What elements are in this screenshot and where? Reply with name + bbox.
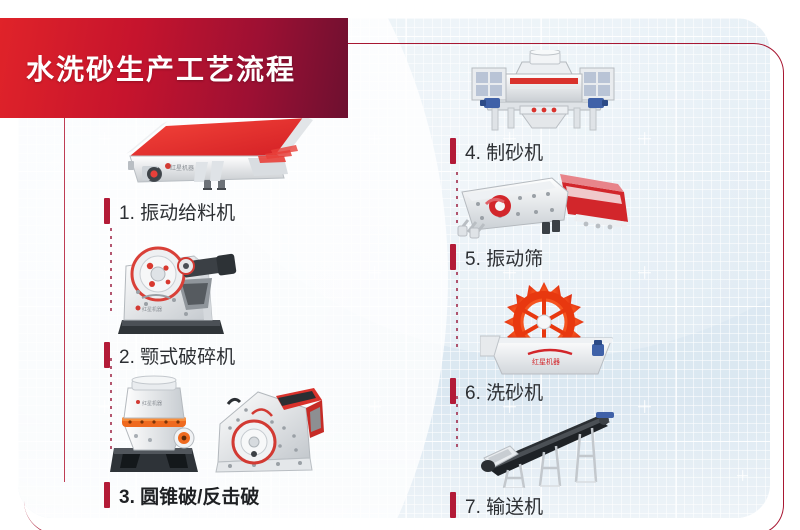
impact-crusher-image (210, 380, 330, 476)
page-title: 水洗砂生产工艺流程 (26, 48, 296, 88)
accent-bar (450, 378, 456, 404)
svg-text:红星机器: 红星机器 (170, 164, 194, 172)
step-7-label: 7. 输送机 (465, 492, 543, 519)
cone-crusher-image: 红星机器 (106, 372, 206, 476)
step-6-label: 6. 洗砂机 (465, 378, 543, 405)
right-column: 4. 制砂机 (450, 50, 680, 522)
belt-conveyor-image (478, 412, 680, 488)
accent-bar (450, 244, 456, 270)
sand-washing-machine-image: 红星机器 (480, 282, 680, 376)
step-5-label-row: 5. 振动筛 (450, 242, 680, 272)
process-step-5[interactable]: 5. 振动筛 (450, 164, 680, 276)
step-3-label: 3. 圆锥破/反击破 (119, 482, 259, 509)
accent-bar (450, 138, 456, 164)
process-step-1[interactable]: 红星机器 1. 振动给料机 (104, 104, 354, 234)
left-column: 红星机器 1. 振动给料机 (104, 104, 354, 492)
accent-bar (104, 198, 110, 224)
title-banner: 水洗砂生产工艺流程 (0, 18, 348, 118)
step-1-label: 1. 振动给料机 (119, 198, 235, 225)
vibrating-screen-image (456, 164, 680, 240)
svg-text:红星机器: 红星机器 (142, 400, 162, 407)
process-step-3[interactable]: 红星机器 (104, 372, 354, 492)
step-7-label-row: 7. 输送机 (450, 490, 680, 520)
step-2-label: 2. 颚式破碎机 (119, 342, 235, 369)
svg-text:红星机器: 红星机器 (532, 357, 560, 366)
process-step-7[interactable]: 7. 输送机 (450, 412, 680, 522)
svg-text:红星机器: 红星机器 (142, 306, 162, 313)
step-1-label-row: 1. 振动给料机 (104, 196, 354, 226)
accent-bar (104, 342, 110, 368)
step-4-label-row: 4. 制砂机 (450, 136, 680, 166)
process-step-6[interactable]: 红星机器 6. 洗砂机 (450, 282, 680, 408)
step-3-label-row: 3. 圆锥破/反击破 (104, 480, 354, 510)
step-2-label-row: 2. 颚式破碎机 (104, 340, 354, 370)
process-step-2[interactable]: 红星机器 2. 颚式破碎机 (104, 238, 354, 372)
accent-bar (104, 482, 110, 508)
step-6-label-row: 6. 洗砂机 (450, 376, 680, 406)
sand-making-machine-image (454, 50, 680, 132)
jaw-crusher-image: 红星机器 (116, 238, 354, 338)
process-step-4[interactable]: 4. 制砂机 (450, 50, 680, 158)
flowchart-poster: 水洗砂生产工艺流程 (0, 0, 800, 530)
step-5-label: 5. 振动筛 (465, 244, 543, 271)
left-vertical-rule (64, 62, 65, 482)
accent-bar (450, 492, 456, 518)
step-4-label: 4. 制砂机 (465, 138, 543, 165)
